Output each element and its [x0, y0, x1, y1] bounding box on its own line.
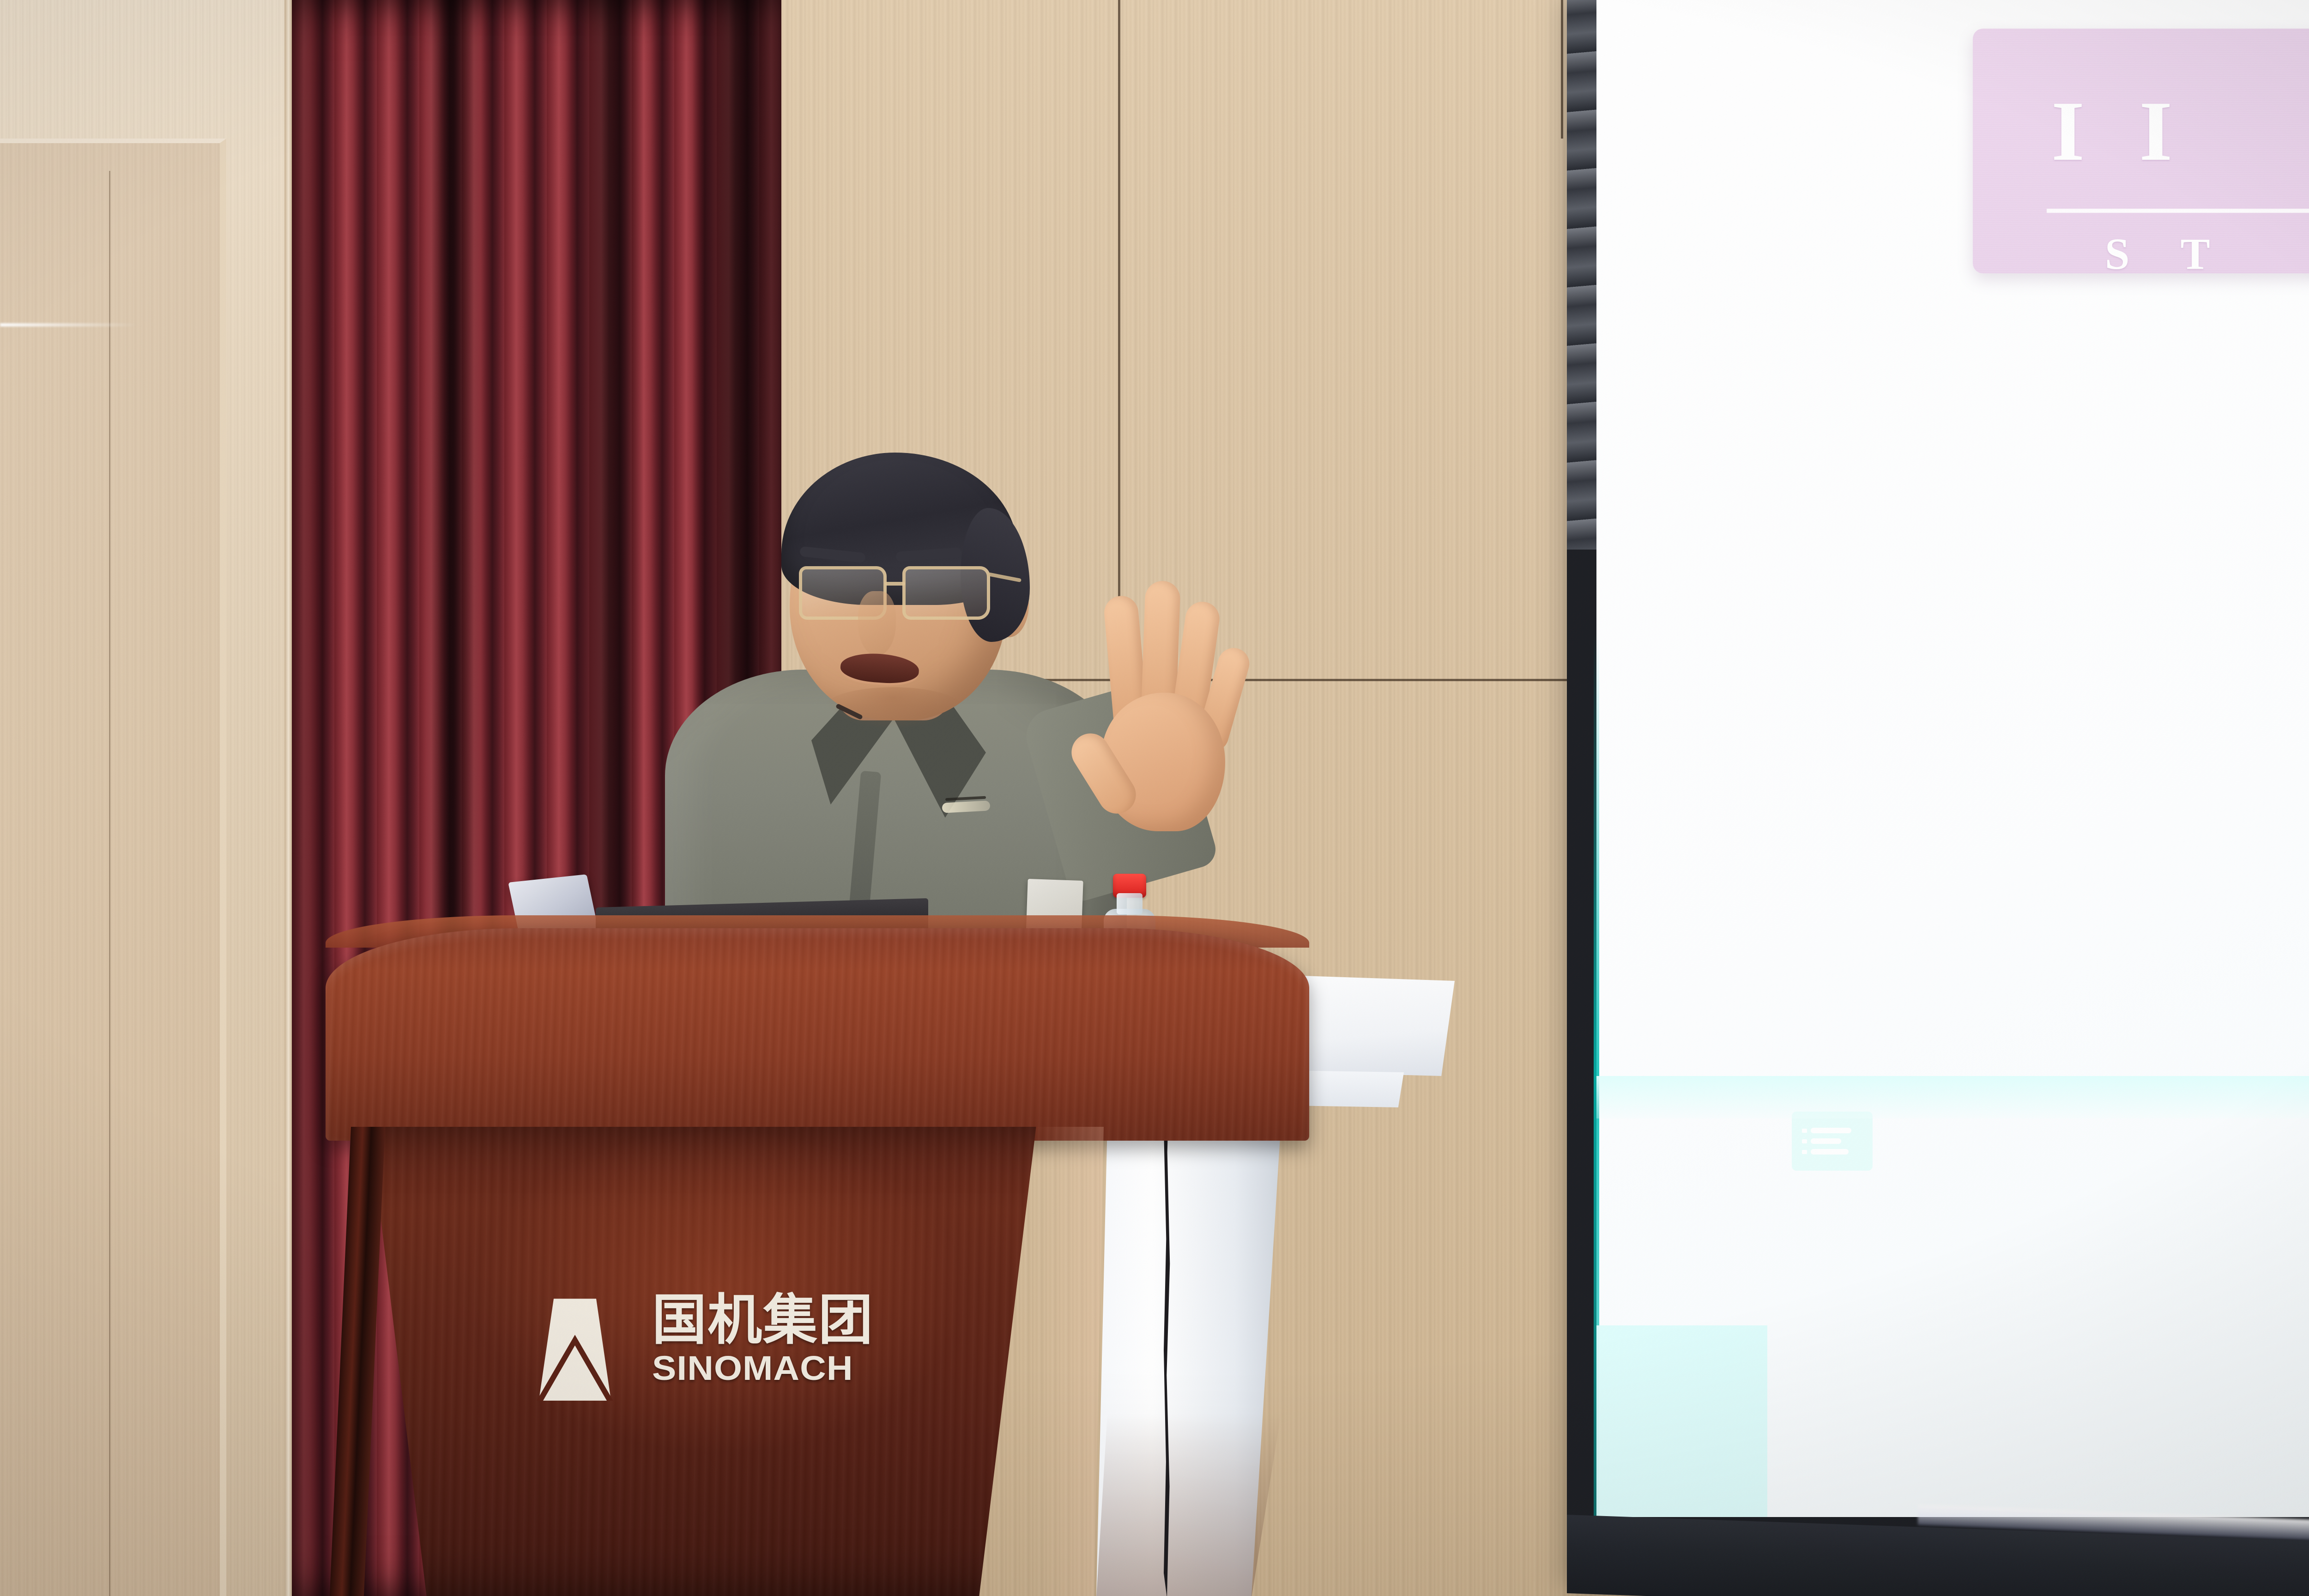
- widget-label-bar: [1811, 1138, 1841, 1144]
- widget-label-bar: [1811, 1128, 1851, 1133]
- screen-widget-row: [1802, 1128, 1862, 1133]
- lens-right: [902, 566, 990, 620]
- brand-name-chinese: 国机集团: [652, 1293, 874, 1348]
- slide-subtitle: S T: [2105, 232, 2230, 273]
- screen-widget-row: [1802, 1149, 1862, 1155]
- brand-name-english: SINOMACH: [652, 1351, 887, 1385]
- left-door-panel[interactable]: [0, 0, 291, 1596]
- podium-top-surface: [326, 928, 1309, 1141]
- sinomach-text-block: 国机集团 SINOMACH: [652, 1293, 874, 1385]
- side-table-shadow: [1096, 1413, 1281, 1596]
- speaker-raised-hand: [1064, 577, 1263, 836]
- slide-roman-numeral: I I: [2051, 93, 2189, 170]
- glasses-bridge: [885, 582, 905, 586]
- photo-scene: I I S T: [0, 0, 2309, 1596]
- widget-bullet-icon: [1802, 1139, 1807, 1143]
- presentation-display[interactable]: I I S T: [1567, 0, 2309, 1591]
- door-light-reflection: [0, 323, 139, 326]
- bottle-neck: [1117, 893, 1142, 914]
- screen-ui-widget[interactable]: [1792, 1112, 1873, 1171]
- podium-right-highlight: [1034, 1127, 1104, 1596]
- door-inset-panel: [0, 139, 226, 1596]
- slide-divider-rule: [2047, 209, 2309, 213]
- widget-bullet-icon: [1802, 1129, 1807, 1133]
- speaker-nose: [858, 591, 896, 656]
- wall-seam-vertical-2: [1561, 0, 1563, 139]
- door-frame-edge: [284, 0, 292, 1596]
- screen-widget-row: [1802, 1138, 1862, 1144]
- widget-bullet-icon: [1802, 1150, 1807, 1154]
- eyeglasses: [792, 560, 1009, 638]
- sinomach-brand-lockup: 国机集团 SINOMACH: [522, 1293, 874, 1402]
- widget-label-bar: [1811, 1149, 1849, 1155]
- slide-title-card: I I S T: [1973, 29, 2309, 273]
- display-accent-band: [1596, 1076, 2309, 1118]
- display-accent-corner: [1596, 1325, 1767, 1517]
- sinomach-mountain-logo-icon: [522, 1293, 628, 1402]
- display-screen[interactable]: I I S T: [1596, 0, 2309, 1517]
